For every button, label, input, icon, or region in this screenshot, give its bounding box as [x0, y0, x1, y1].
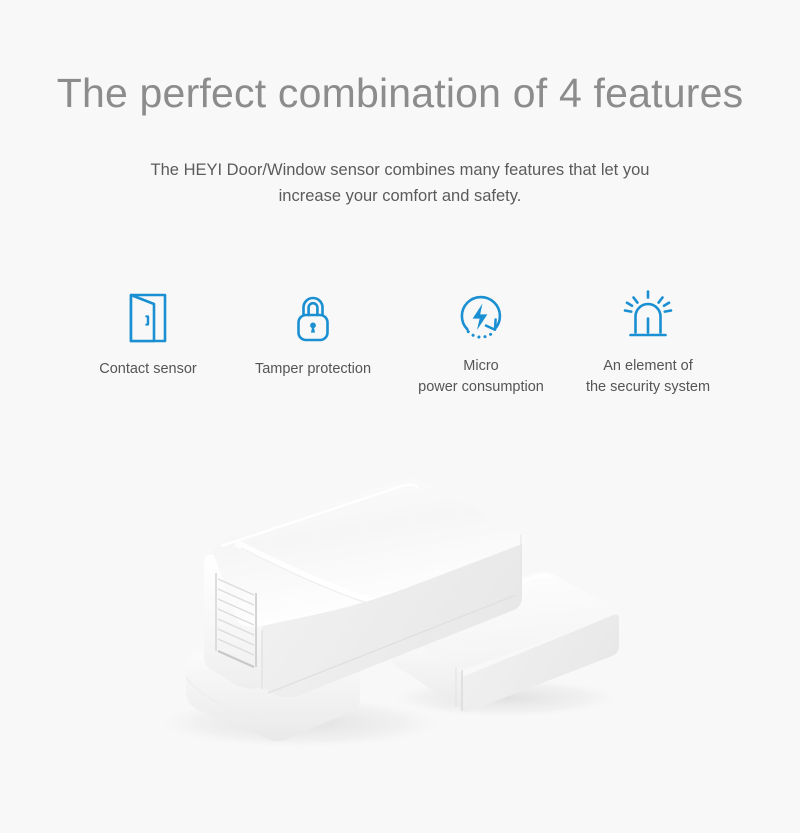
- alarm-siren-icon: [558, 283, 738, 345]
- feature-label: Tamper protection: [223, 359, 403, 380]
- feature-label-line1: Tamper protection: [255, 361, 371, 377]
- page-subtitle: The HEYI Door/Window sensor combines man…: [130, 158, 670, 209]
- feature-label-line1: Contact sensor: [99, 361, 197, 377]
- feature-label-line1: An element of: [603, 358, 692, 374]
- feature-label: Contact sensor: [58, 359, 238, 380]
- page-subtitle-line2: increase your comfort and safety.: [279, 187, 522, 205]
- feature-item-power-consumption: Micro power consumption: [391, 283, 571, 397]
- feature-item-security-system: An element of the security system: [558, 283, 738, 397]
- feature-label: An element of the security system: [558, 356, 738, 397]
- product-image: [0, 455, 800, 795]
- page-title: The perfect combination of 4 features: [0, 70, 800, 117]
- feature-item-tamper-protection: Tamper protection: [223, 283, 403, 380]
- feature-item-contact-sensor: Contact sensor: [58, 283, 238, 380]
- feature-label-line2: the security system: [558, 377, 738, 398]
- page-subtitle-line1: The HEYI Door/Window sensor combines man…: [151, 161, 650, 179]
- feature-label-line2: power consumption: [391, 377, 571, 398]
- product-feature-section: The perfect combination of 4 features Th…: [0, 0, 800, 833]
- power-bolt-icon: [391, 283, 571, 345]
- padlock-icon: [223, 283, 403, 345]
- feature-label: Micro power consumption: [391, 356, 571, 397]
- feature-label-line1: Micro: [463, 358, 498, 374]
- open-door-icon: [58, 283, 238, 345]
